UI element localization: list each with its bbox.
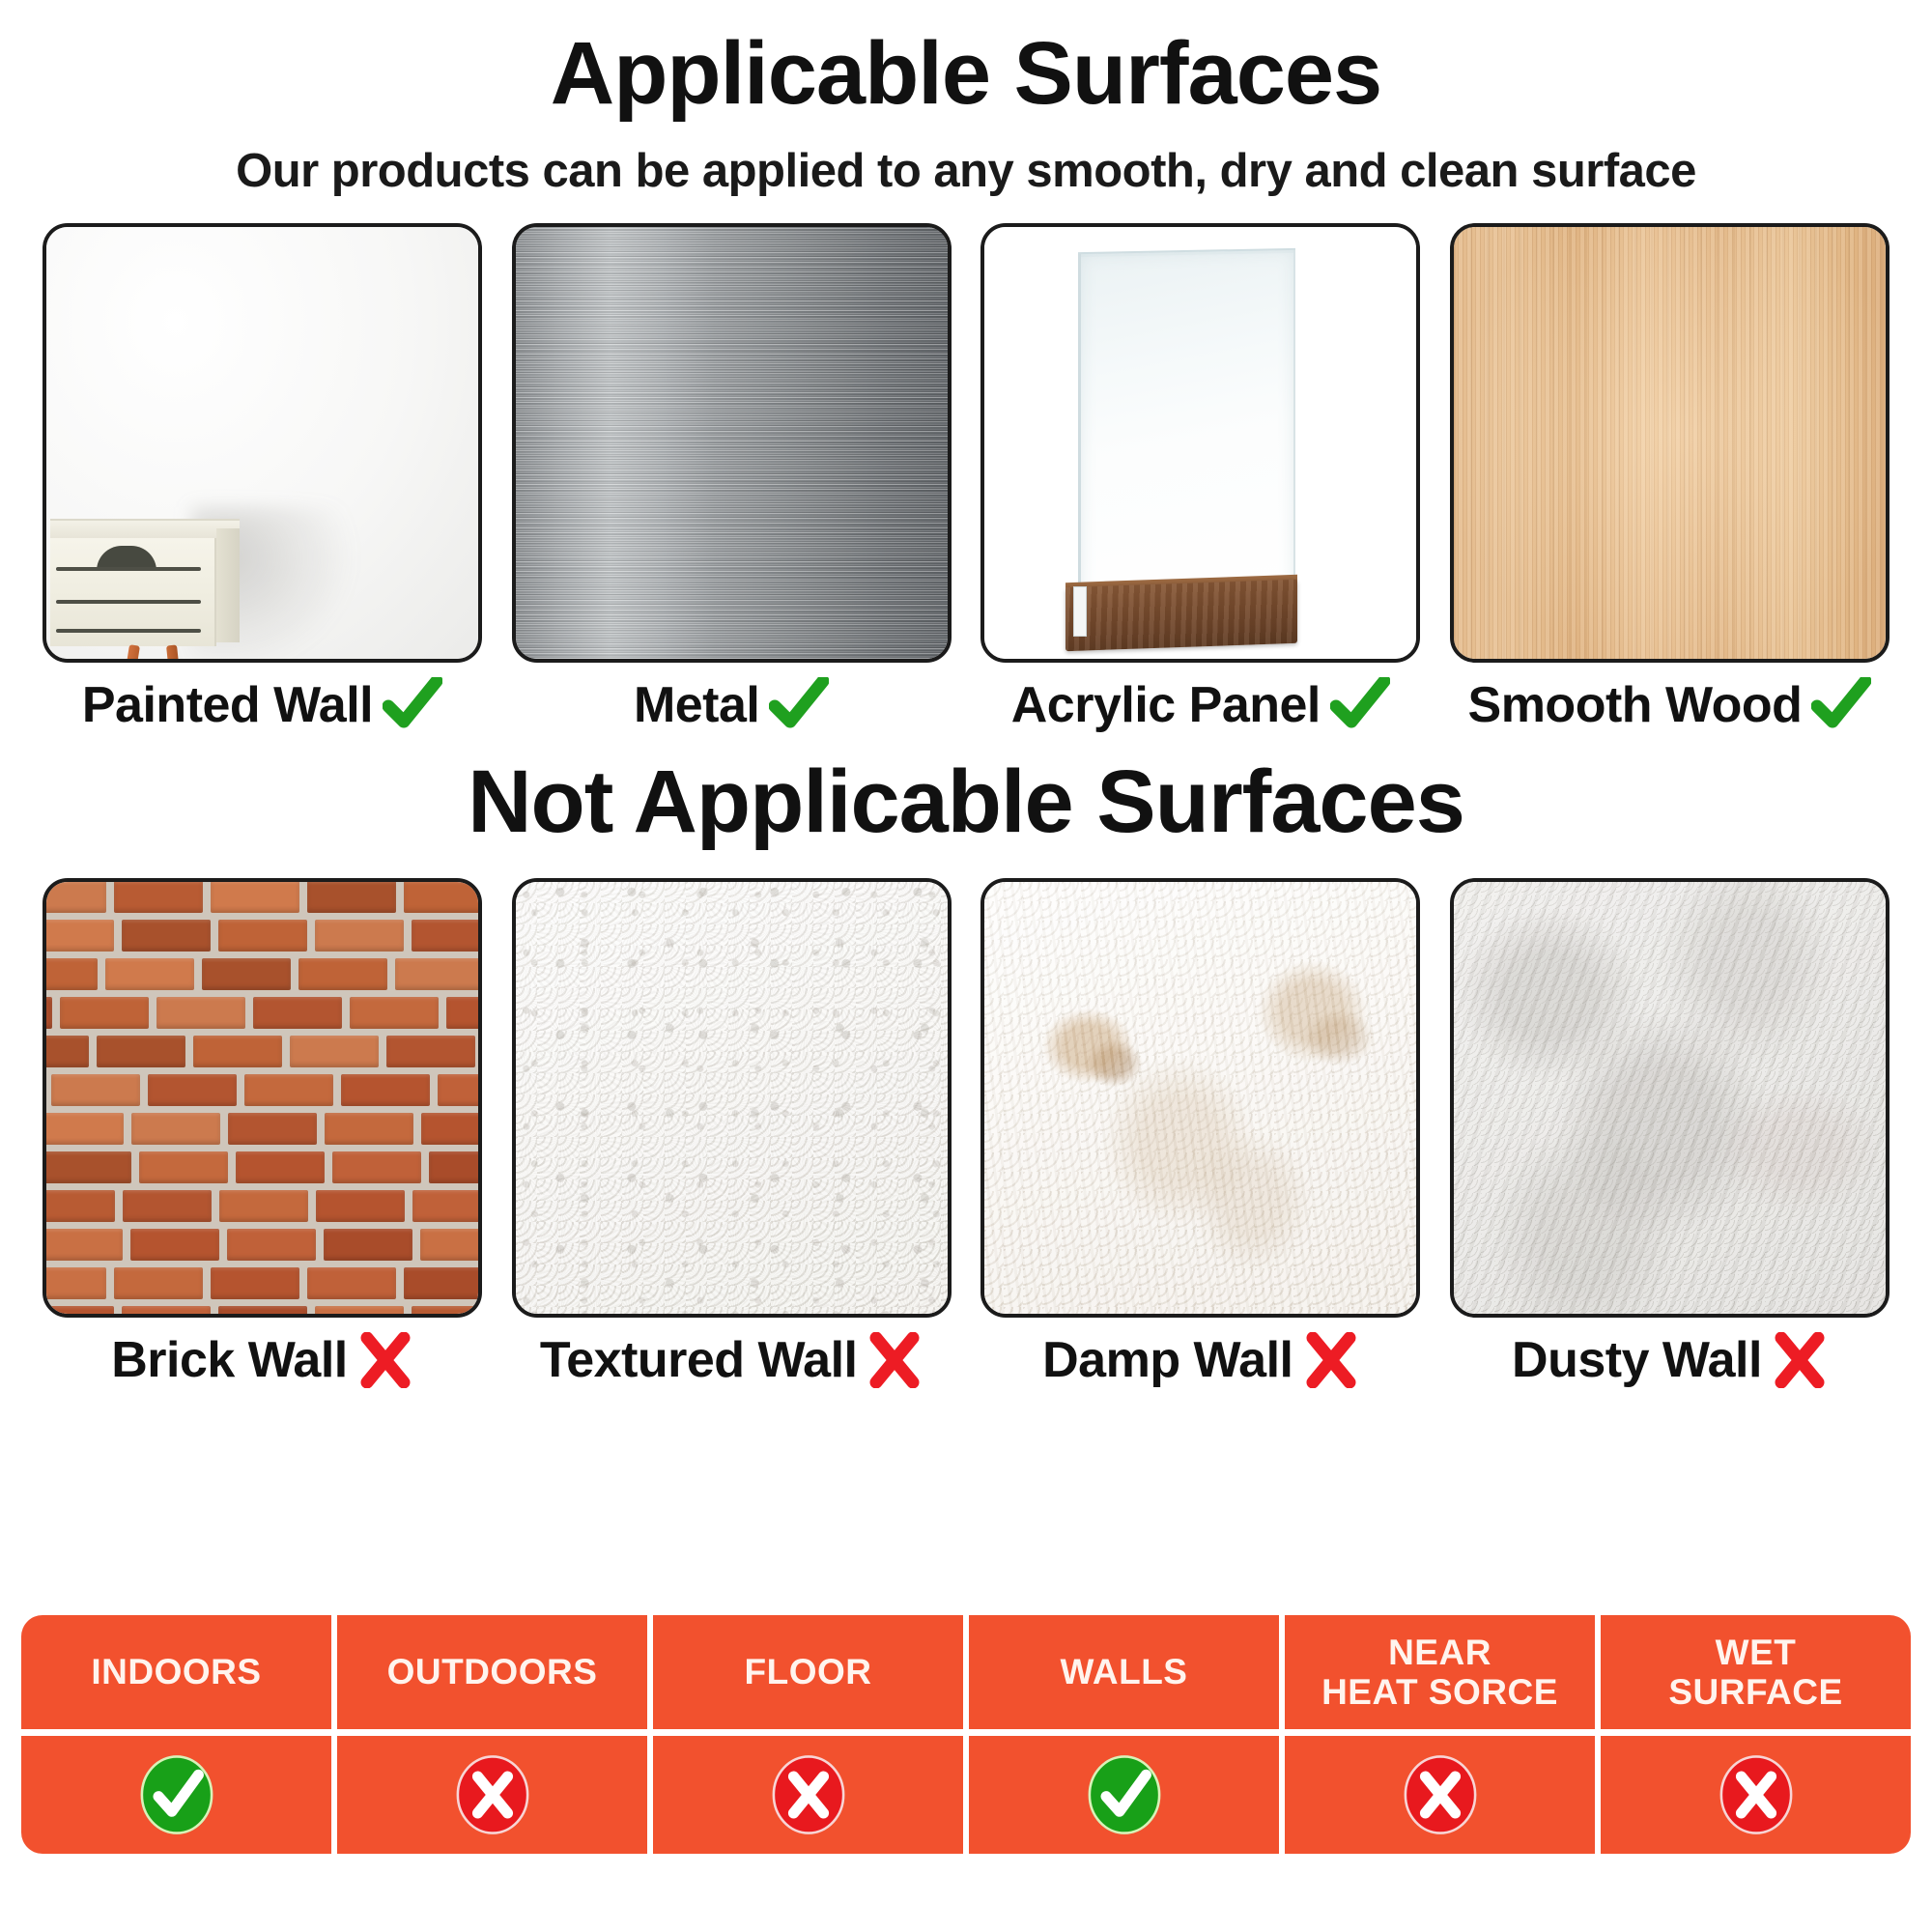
page-title: Applicable Surfaces	[0, 0, 1932, 121]
brick	[412, 1306, 482, 1318]
page-subtitle: Our products can be applied to any smoot…	[0, 144, 1932, 198]
brick	[332, 1151, 421, 1183]
tile-acrylic-panel: Acrylic Panel	[980, 223, 1420, 734]
tile-image-dusty-wall	[1450, 878, 1889, 1318]
cross-icon	[1772, 1332, 1828, 1388]
brick	[341, 1074, 430, 1106]
brick	[438, 1074, 482, 1106]
tile-brick-wall: Brick Wall	[43, 878, 482, 1389]
matrix-status-cell-1[interactable]	[337, 1736, 647, 1854]
brick	[316, 1190, 405, 1222]
brick	[43, 1074, 43, 1106]
matrix-header-cell-4[interactable]: NEAR HEAT SORCE	[1285, 1615, 1595, 1729]
brick	[43, 1113, 124, 1145]
brick	[244, 1074, 333, 1106]
usage-matrix-header-row: INDOORSOUTDOORSFLOORWALLSNEAR HEAT SORCE…	[21, 1615, 1911, 1729]
brick	[43, 1306, 114, 1318]
brick	[43, 1151, 131, 1183]
brick	[211, 1267, 299, 1299]
brick	[446, 997, 482, 1029]
tile-label-painted-wall: Painted Wall	[43, 676, 482, 734]
brick-row	[46, 1149, 478, 1187]
cross-icon	[357, 1332, 413, 1388]
cabinet-drawer-line	[56, 629, 201, 633]
brick	[43, 1229, 123, 1261]
tile-image-metal	[512, 223, 952, 663]
matrix-header-label: NEAR HEAT SORCE	[1321, 1633, 1558, 1713]
matrix-header-cell-5[interactable]: WET SURFACE	[1601, 1615, 1911, 1729]
brick	[350, 997, 439, 1029]
brick	[219, 1190, 308, 1222]
brick	[193, 1036, 282, 1067]
matrix-status-cell-2[interactable]	[653, 1736, 963, 1854]
brick	[43, 1036, 89, 1067]
tile-label-text: Textured Wall	[540, 1331, 858, 1389]
brick	[315, 920, 404, 952]
cabinet-drawer-line	[56, 567, 201, 571]
matrix-header-cell-0[interactable]: INDOORS	[21, 1615, 331, 1729]
brick	[386, 1036, 475, 1067]
brick	[43, 920, 114, 952]
brick	[105, 958, 194, 990]
brick-row	[46, 878, 478, 917]
brick	[156, 997, 245, 1029]
damp-wall-texture	[984, 882, 1416, 1314]
brick	[227, 1229, 316, 1261]
usage-matrix: INDOORSOUTDOORSFLOORWALLSNEAR HEAT SORCE…	[21, 1615, 1911, 1854]
brick	[43, 997, 52, 1029]
smooth-wood-texture	[1454, 227, 1886, 659]
matrix-header-label: OUTDOORS	[387, 1652, 598, 1691]
dusty-wall-texture	[1454, 882, 1886, 1314]
matrix-header-label: WET SURFACE	[1668, 1633, 1842, 1713]
brick-row	[46, 1187, 478, 1226]
brick	[307, 1267, 396, 1299]
brick	[139, 1151, 228, 1183]
brick	[420, 1229, 482, 1261]
matrix-status-cell-0[interactable]	[21, 1736, 331, 1854]
brick-row	[46, 1110, 478, 1149]
tile-image-smooth-wood	[1450, 223, 1889, 663]
tile-label-text: Dusty Wall	[1512, 1331, 1762, 1389]
brick	[131, 1113, 220, 1145]
tile-label-dusty-wall: Dusty Wall	[1450, 1331, 1889, 1389]
brick	[236, 1151, 325, 1183]
check-circle-icon	[135, 1750, 218, 1839]
check-icon	[1811, 677, 1871, 733]
tile-image-painted-wall	[43, 223, 482, 663]
tile-label-text: Acrylic Panel	[1011, 676, 1321, 734]
brick	[43, 1267, 106, 1299]
matrix-header-label: WALLS	[1061, 1652, 1188, 1691]
brick	[412, 920, 482, 952]
brick	[404, 881, 482, 913]
matrix-status-cell-3[interactable]	[969, 1736, 1279, 1854]
brick	[325, 1113, 413, 1145]
tile-label-text: Metal	[634, 676, 759, 734]
tile-textured-wall: Textured Wall	[512, 878, 952, 1389]
acrylic-sheet	[1078, 249, 1295, 606]
tile-label-text: Painted Wall	[82, 676, 373, 734]
brick	[97, 1036, 185, 1067]
brick	[130, 1229, 219, 1261]
brick	[211, 881, 299, 913]
tile-label-text: Smooth Wood	[1468, 676, 1803, 734]
tile-painted-wall: Painted Wall	[43, 223, 482, 734]
cabinet-side	[216, 528, 240, 642]
brick-row	[46, 1303, 478, 1318]
brick-row	[46, 1264, 478, 1303]
infographic-page: Applicable Surfaces Our products can be …	[0, 0, 1932, 1932]
tile-label-metal: Metal	[512, 676, 952, 734]
matrix-header-cell-2[interactable]: FLOOR	[653, 1615, 963, 1729]
tile-image-acrylic-panel	[980, 223, 1420, 663]
textured-wall-texture	[516, 882, 948, 1314]
cabinet-drawer-line	[56, 600, 201, 604]
matrix-header-cell-1[interactable]: OUTDOORS	[337, 1615, 647, 1729]
brick-row	[46, 994, 478, 1033]
matrix-header-label: INDOORS	[91, 1652, 261, 1691]
brick	[122, 1306, 211, 1318]
brick	[324, 1229, 412, 1261]
matrix-header-label: FLOOR	[745, 1652, 872, 1691]
brick	[412, 1190, 482, 1222]
brick-row	[46, 917, 478, 955]
cross-circle-icon	[1399, 1750, 1482, 1839]
check-icon	[383, 677, 442, 733]
cross-circle-icon	[1715, 1750, 1798, 1839]
brick	[429, 1151, 482, 1183]
not-applicable-tiles-row: Brick Wall Textured Wall Damp	[0, 878, 1932, 1389]
cross-circle-icon	[451, 1750, 534, 1839]
brick	[123, 1190, 212, 1222]
cabinet-top	[50, 519, 240, 540]
cross-circle-icon	[767, 1750, 850, 1839]
brick	[253, 997, 342, 1029]
cross-icon	[1303, 1332, 1359, 1388]
tile-metal: Metal	[512, 223, 952, 734]
brushed-metal-texture	[516, 227, 948, 659]
section-title-not-applicable: Not Applicable Surfaces	[0, 752, 1932, 853]
brick-row	[46, 955, 478, 994]
tile-label-textured-wall: Textured Wall	[512, 1331, 952, 1389]
brick-row	[46, 1071, 478, 1110]
tile-label-brick-wall: Brick Wall	[43, 1331, 482, 1389]
tile-image-brick-wall	[43, 878, 482, 1318]
tile-label-text: Brick Wall	[111, 1331, 348, 1389]
brick	[421, 1113, 482, 1145]
tile-label-acrylic-panel: Acrylic Panel	[980, 676, 1420, 734]
matrix-status-cell-5[interactable]	[1601, 1736, 1911, 1854]
wooden-base	[1065, 579, 1297, 650]
tile-label-damp-wall: Damp Wall	[980, 1331, 1420, 1389]
brick	[43, 958, 98, 990]
tile-image-damp-wall	[980, 878, 1420, 1318]
tile-image-textured-wall	[512, 878, 952, 1318]
brick	[114, 1267, 203, 1299]
tile-damp-wall: Damp Wall	[980, 878, 1420, 1389]
brick	[218, 1306, 307, 1318]
brick	[290, 1036, 379, 1067]
tile-label-text: Damp Wall	[1042, 1331, 1293, 1389]
brick	[43, 881, 106, 913]
brick	[60, 997, 149, 1029]
tile-label-smooth-wood: Smooth Wood	[1450, 676, 1889, 734]
brick	[228, 1113, 317, 1145]
check-circle-icon	[1083, 1750, 1166, 1839]
brick	[148, 1074, 237, 1106]
brick	[51, 1074, 140, 1106]
brick	[122, 920, 211, 952]
cross-icon	[867, 1332, 923, 1388]
tile-dusty-wall: Dusty Wall	[1450, 878, 1889, 1389]
matrix-status-cell-4[interactable]	[1285, 1736, 1595, 1854]
brick	[218, 920, 307, 952]
tile-smooth-wood: Smooth Wood	[1450, 223, 1889, 734]
brick-wall-texture	[46, 882, 478, 1314]
brick	[315, 1306, 404, 1318]
brick	[202, 958, 291, 990]
brick	[395, 958, 482, 990]
brick-row	[46, 1033, 478, 1071]
brick	[307, 881, 396, 913]
brick	[114, 881, 203, 913]
matrix-header-cell-3[interactable]: WALLS	[969, 1615, 1279, 1729]
check-icon	[1330, 677, 1390, 733]
acrylic-base-slot	[1073, 586, 1087, 637]
check-icon	[769, 677, 829, 733]
brick-row	[46, 1226, 478, 1264]
brick	[43, 1190, 115, 1222]
usage-matrix-status-row	[21, 1736, 1911, 1854]
brick	[298, 958, 387, 990]
applicable-tiles-row: Painted Wall Metal	[0, 223, 1932, 734]
brick	[404, 1267, 482, 1299]
